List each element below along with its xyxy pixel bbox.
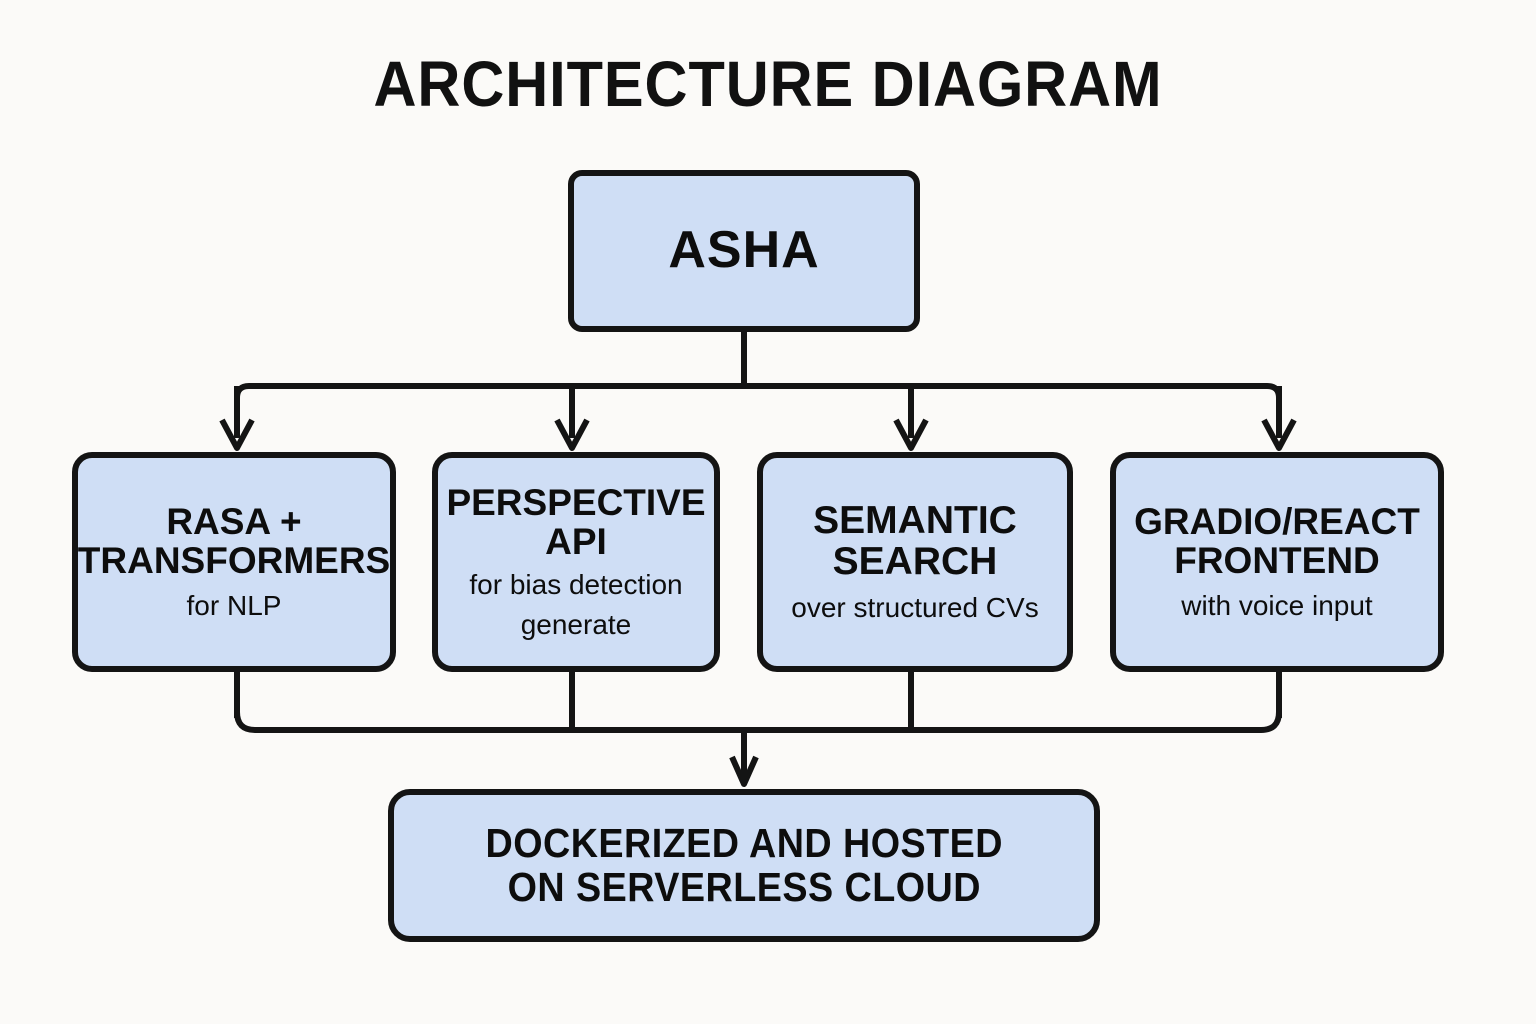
node-perspective-api-subtitle-line1: for bias detection — [469, 570, 682, 601]
node-gradio-react-frontend-title-line2: FRONTEND — [1174, 541, 1380, 580]
arrowhead-frontend — [1264, 420, 1294, 448]
node-gradio-react-frontend-title-line1: GRADIO/REACT — [1134, 502, 1420, 541]
arrowhead-perspective — [557, 420, 587, 448]
arrowhead-bottom — [732, 757, 756, 784]
node-dockerized-hosted[interactable]: DOCKERIZED AND HOSTED ON SERVERLESS CLOU… — [388, 789, 1100, 942]
node-perspective-api-title-line1: PERSPECTIVE — [446, 483, 705, 522]
node-rasa-transformers-subtitle: for NLP — [187, 591, 282, 622]
node-perspective-api[interactable]: PERSPECTIVE API for bias detection gener… — [432, 452, 720, 672]
edge-merge-bar — [237, 712, 1279, 730]
node-rasa-transformers-title-line1: RASA + — [166, 502, 301, 541]
page-title: ARCHITECTURE DIAGRAM — [54, 47, 1482, 121]
node-semantic-search-subtitle: over structured CVs — [791, 593, 1038, 624]
node-gradio-react-frontend[interactable]: GRADIO/REACT FRONTEND with voice input — [1110, 452, 1444, 672]
node-gradio-react-frontend-subtitle: with voice input — [1181, 591, 1372, 622]
architecture-diagram-canvas: ARCHITECTURE DIAGRAM — [0, 0, 1536, 1024]
node-asha[interactable]: ASHA — [568, 170, 920, 332]
node-perspective-api-title-line2: API — [545, 522, 607, 561]
arrowhead-semantic — [896, 420, 926, 448]
node-semantic-search-title-line1: SEMANTIC — [813, 500, 1017, 541]
node-semantic-search-title-line2: SEARCH — [833, 541, 998, 582]
node-perspective-api-subtitle-line2: generate — [521, 610, 632, 641]
node-asha-title: ASHA — [668, 223, 819, 278]
node-rasa-transformers[interactable]: RASA + TRANSFORMERS for NLP — [72, 452, 396, 672]
node-rasa-transformers-title-line2: TRANSFORMERS — [78, 541, 390, 580]
node-semantic-search[interactable]: SEMANTIC SEARCH over structured CVs — [757, 452, 1073, 672]
arrowhead-rasa — [222, 420, 252, 448]
node-dockerized-hosted-title-line1: DOCKERIZED AND HOSTED — [485, 822, 1003, 865]
node-dockerized-hosted-title-line2: ON SERVERLESS CLOUD — [507, 866, 980, 909]
edge-fan-bar — [237, 386, 1279, 432]
